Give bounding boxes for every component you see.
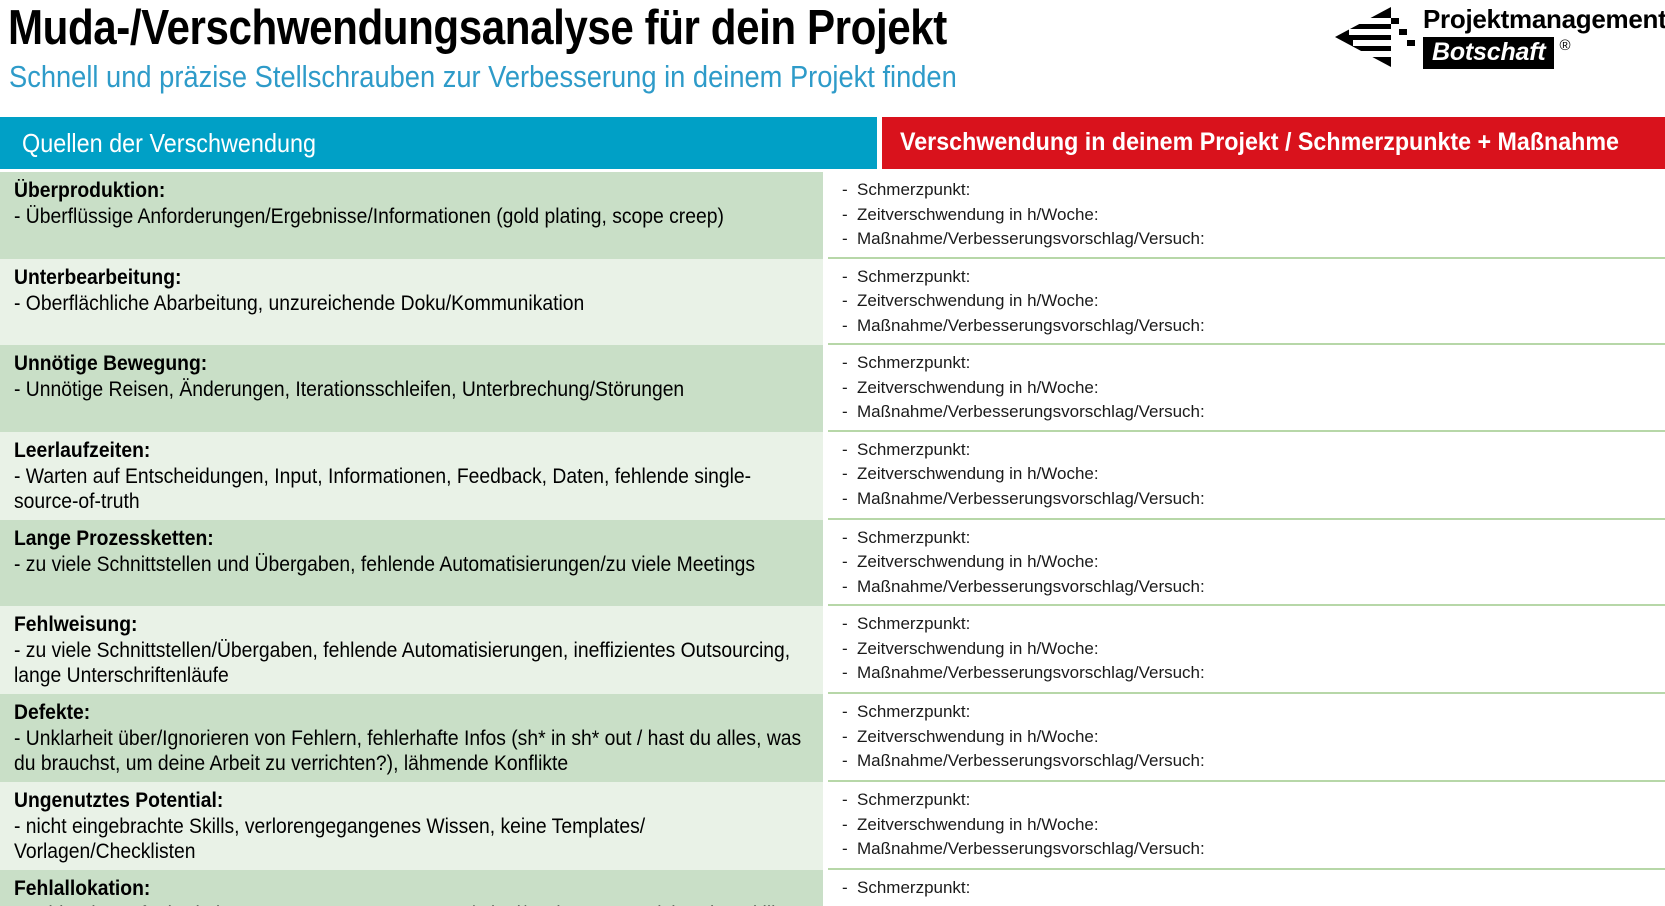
entry-bullet-label: Schmerzpunkt: — [857, 438, 1665, 463]
table-row: Unnötige Bewegung:- Unnötige Reisen, Änd… — [0, 345, 1665, 432]
bullet-dash-icon: - — [828, 265, 857, 290]
entry-bullet-line[interactable]: -Maßnahme/Verbesserungsvorschlag/Versuch… — [828, 487, 1665, 512]
waste-source-description: - Unklarheit über/Ignorieren von Fehlern… — [14, 726, 811, 776]
entry-bullet-label: Maßnahme/Verbesserungsvorschlag/Versuch: — [857, 227, 1665, 252]
entry-bullet-label: Maßnahme/Verbesserungsvorschlag/Versuch: — [857, 837, 1665, 862]
entry-bullet-line[interactable]: -Zeitverschwendung in h/Woche: — [828, 203, 1665, 228]
bullet-dash-icon: - — [828, 314, 857, 339]
bullet-dash-icon: - — [828, 612, 857, 637]
entry-bullet-line[interactable]: -Maßnahme/Verbesserungsvorschlag/Versuch… — [828, 227, 1665, 252]
waste-source-title: Leerlaufzeiten: — [14, 438, 747, 464]
entry-bullet-line[interactable]: -Schmerzpunkt: — [828, 178, 1665, 203]
bullet-dash-icon: - — [828, 788, 857, 813]
table-row: Ungenutztes Potential:- nicht eingebrach… — [0, 782, 1665, 870]
column-header-sources-label: Quellen der Verschwendung — [22, 128, 316, 159]
waste-source-cell: Defekte:- Unklarheit über/Ignorieren von… — [0, 694, 823, 782]
bullet-dash-icon: - — [828, 813, 857, 838]
entry-bullet-line[interactable]: -Zeitverschwendung in h/Woche: — [828, 813, 1665, 838]
entry-bullet-label: Zeitverschwendung in h/Woche: — [857, 637, 1665, 662]
entry-bullet-line[interactable]: -Schmerzpunkt: — [828, 265, 1665, 290]
entry-bullet-label: Maßnahme/Verbesserungsvorschlag/Versuch: — [857, 487, 1665, 512]
waste-source-cell: Unnötige Bewegung:- Unnötige Reisen, Änd… — [0, 345, 823, 432]
table-row: Überproduktion:- Überflüssige Anforderun… — [0, 172, 1665, 259]
waste-source-description: - zu viele Schnittstellen und Übergaben,… — [14, 552, 811, 577]
entry-bullet-label: Schmerzpunkt: — [857, 788, 1665, 813]
waste-table-body: Überproduktion:- Überflüssige Anforderun… — [0, 172, 1665, 906]
table-row: Lange Prozessketten:- zu viele Schnittst… — [0, 520, 1665, 607]
waste-source-description: - Fehlende Verfügbarkeit, Kompetenzen, R… — [14, 902, 811, 906]
entry-bullet-label: Zeitverschwendung in h/Woche: — [857, 901, 1665, 906]
project-entry-cell[interactable]: -Schmerzpunkt:-Zeitverschwendung in h/Wo… — [828, 606, 1665, 694]
entry-bullet-line[interactable]: -Schmerzpunkt: — [828, 788, 1665, 813]
project-entry-cell[interactable]: -Schmerzpunkt:-Zeitverschwendung in h/Wo… — [828, 870, 1665, 906]
entry-bullet-line[interactable]: -Maßnahme/Verbesserungsvorschlag/Versuch… — [828, 661, 1665, 686]
waste-source-cell: Fehlallokation:- Fehlende Verfügbarkeit,… — [0, 870, 823, 906]
triangle-stripes-icon — [1331, 6, 1417, 68]
bullet-dash-icon: - — [828, 178, 857, 203]
bullet-dash-icon: - — [828, 749, 857, 774]
waste-source-title: Fehlweisung: — [14, 612, 747, 638]
entry-bullet-line[interactable]: -Zeitverschwendung in h/Woche: — [828, 901, 1665, 906]
entry-bullet-line[interactable]: -Maßnahme/Verbesserungsvorschlag/Versuch… — [828, 749, 1665, 774]
waste-source-cell: Fehlweisung:- zu viele Schnittstellen/Üb… — [0, 606, 823, 694]
bullet-dash-icon: - — [828, 400, 857, 425]
entry-bullet-label: Schmerzpunkt: — [857, 700, 1665, 725]
waste-source-description: - Warten auf Entscheidungen, Input, Info… — [14, 464, 811, 514]
waste-source-cell: Überproduktion:- Überflüssige Anforderun… — [0, 172, 823, 259]
entry-bullet-label: Schmerzpunkt: — [857, 526, 1665, 551]
bullet-dash-icon: - — [828, 550, 857, 575]
project-entry-cell[interactable]: -Schmerzpunkt:-Zeitverschwendung in h/Wo… — [828, 432, 1665, 520]
bullet-dash-icon: - — [828, 526, 857, 551]
entry-bullet-line[interactable]: -Maßnahme/Verbesserungsvorschlag/Versuch… — [828, 400, 1665, 425]
waste-source-title: Lange Prozessketten: — [14, 526, 747, 552]
table-row: Unterbearbeitung:- Oberflächliche Abarbe… — [0, 259, 1665, 346]
entry-bullet-line[interactable]: -Schmerzpunkt: — [828, 876, 1665, 901]
entry-bullet-label: Schmerzpunkt: — [857, 612, 1665, 637]
entry-bullet-line[interactable]: -Maßnahme/Verbesserungsvorschlag/Versuch… — [828, 575, 1665, 600]
bullet-dash-icon: - — [828, 637, 857, 662]
entry-bullet-label: Maßnahme/Verbesserungsvorschlag/Versuch: — [857, 314, 1665, 339]
entry-bullet-label: Zeitverschwendung in h/Woche: — [857, 289, 1665, 314]
table-row: Defekte:- Unklarheit über/Ignorieren von… — [0, 694, 1665, 782]
page-header: Muda-/Verschwendungsanalyse für dein Pro… — [0, 0, 1665, 110]
entry-bullet-label: Maßnahme/Verbesserungsvorschlag/Versuch: — [857, 749, 1665, 774]
entry-bullet-label: Maßnahme/Verbesserungsvorschlag/Versuch: — [857, 575, 1665, 600]
waste-source-description: - Oberflächliche Abarbeitung, unzureiche… — [14, 291, 811, 316]
waste-source-description: - nicht eingebrachte Skills, verlorengeg… — [14, 814, 811, 864]
page-title: Muda-/Verschwendungsanalyse für dein Pro… — [8, 0, 947, 58]
entry-bullet-line[interactable]: -Schmerzpunkt: — [828, 612, 1665, 637]
bullet-dash-icon: - — [828, 203, 857, 228]
column-header-sources: Quellen der Verschwendung — [0, 117, 877, 169]
entry-bullet-label: Maßnahme/Verbesserungsvorschlag/Versuch: — [857, 661, 1665, 686]
brand-logo: Projektmanagement Botschaft ® — [1331, 4, 1661, 70]
entry-bullet-line[interactable]: -Maßnahme/Verbesserungsvorschlag/Versuch… — [828, 314, 1665, 339]
entry-bullet-line[interactable]: -Zeitverschwendung in h/Woche: — [828, 550, 1665, 575]
waste-source-cell: Leerlaufzeiten:- Warten auf Entscheidung… — [0, 432, 823, 520]
bullet-dash-icon: - — [828, 575, 857, 600]
entry-bullet-line[interactable]: -Zeitverschwendung in h/Woche: — [828, 289, 1665, 314]
bullet-dash-icon: - — [828, 289, 857, 314]
muda-analysis-worksheet: Muda-/Verschwendungsanalyse für dein Pro… — [0, 0, 1665, 906]
waste-source-cell: Ungenutztes Potential:- nicht eingebrach… — [0, 782, 823, 870]
entry-bullet-label: Zeitverschwendung in h/Woche: — [857, 725, 1665, 750]
entry-bullet-line[interactable]: -Schmerzpunkt: — [828, 526, 1665, 551]
bullet-dash-icon: - — [828, 487, 857, 512]
entry-bullet-label: Maßnahme/Verbesserungsvorschlag/Versuch: — [857, 400, 1665, 425]
entry-bullet-line[interactable]: -Zeitverschwendung in h/Woche: — [828, 637, 1665, 662]
entry-bullet-label: Schmerzpunkt: — [857, 351, 1665, 376]
project-entry-cell[interactable]: -Schmerzpunkt:-Zeitverschwendung in h/Wo… — [828, 345, 1665, 432]
bullet-dash-icon: - — [828, 227, 857, 252]
bullet-dash-icon: - — [828, 462, 857, 487]
entry-bullet-label: Schmerzpunkt: — [857, 876, 1665, 901]
project-entry-cell[interactable]: -Schmerzpunkt:-Zeitverschwendung in h/Wo… — [828, 520, 1665, 607]
page-subtitle: Schnell und präzise Stellschrauben zur V… — [9, 56, 957, 98]
entry-bullet-label: Zeitverschwendung in h/Woche: — [857, 813, 1665, 838]
bullet-dash-icon: - — [828, 700, 857, 725]
waste-source-description: - Unnötige Reisen, Änderungen, Iteration… — [14, 377, 811, 402]
project-entry-cell[interactable]: -Schmerzpunkt:-Zeitverschwendung in h/Wo… — [828, 694, 1665, 782]
brand-line-botschaft-wrap: Botschaft ® — [1423, 37, 1554, 69]
bullet-dash-icon: - — [828, 725, 857, 750]
waste-source-title: Ungenutztes Potential: — [14, 788, 747, 814]
project-entry-cell[interactable]: -Schmerzpunkt:-Zeitverschwendung in h/Wo… — [828, 172, 1665, 259]
waste-source-title: Überproduktion: — [14, 178, 747, 204]
waste-source-description: - zu viele Schnittstellen/Übergaben, feh… — [14, 638, 811, 688]
project-entry-cell[interactable]: -Schmerzpunkt:-Zeitverschwendung in h/Wo… — [828, 259, 1665, 346]
waste-source-cell: Lange Prozessketten:- zu viele Schnittst… — [0, 520, 823, 607]
project-entry-cell[interactable]: -Schmerzpunkt:-Zeitverschwendung in h/Wo… — [828, 782, 1665, 870]
column-header-project-label: Verschwendung in deinem Projekt / Schmer… — [900, 128, 1619, 157]
entry-bullet-line[interactable]: -Zeitverschwendung in h/Woche: — [828, 376, 1665, 401]
bullet-dash-icon: - — [828, 901, 857, 906]
entry-bullet-label: Zeitverschwendung in h/Woche: — [857, 203, 1665, 228]
entry-bullet-line[interactable]: -Maßnahme/Verbesserungsvorschlag/Versuch… — [828, 837, 1665, 862]
table-row: Fehlweisung:- zu viele Schnittstellen/Üb… — [0, 606, 1665, 694]
bullet-dash-icon: - — [828, 661, 857, 686]
entry-bullet-label: Schmerzpunkt: — [857, 178, 1665, 203]
bullet-dash-icon: - — [828, 376, 857, 401]
entry-bullet-label: Zeitverschwendung in h/Woche: — [857, 376, 1665, 401]
brand-line-projektmanagement: Projektmanagement — [1423, 4, 1661, 35]
brand-line-botschaft: Botschaft — [1423, 37, 1554, 69]
registered-trademark-icon: ® — [1559, 37, 1570, 55]
waste-source-title: Unterbearbeitung: — [14, 265, 747, 291]
bullet-dash-icon: - — [828, 438, 857, 463]
waste-source-description: - Überflüssige Anforderungen/Ergebnisse/… — [14, 204, 811, 229]
brand-wordmark: Projektmanagement Botschaft ® — [1423, 4, 1661, 70]
bullet-dash-icon: - — [828, 837, 857, 862]
waste-source-cell: Unterbearbeitung:- Oberflächliche Abarbe… — [0, 259, 823, 346]
entry-bullet-label: Zeitverschwendung in h/Woche: — [857, 550, 1665, 575]
waste-source-title: Unnötige Bewegung: — [14, 351, 747, 377]
entry-bullet-line[interactable]: -Schmerzpunkt: — [828, 438, 1665, 463]
bullet-dash-icon: - — [828, 876, 857, 901]
bullet-dash-icon: - — [828, 351, 857, 376]
column-header-project: Verschwendung in deinem Projekt / Schmer… — [882, 117, 1665, 169]
entry-bullet-line[interactable]: -Schmerzpunkt: — [828, 351, 1665, 376]
table-row: Leerlaufzeiten:- Warten auf Entscheidung… — [0, 432, 1665, 520]
entry-bullet-line[interactable]: -Zeitverschwendung in h/Woche: — [828, 725, 1665, 750]
entry-bullet-line[interactable]: -Zeitverschwendung in h/Woche: — [828, 462, 1665, 487]
entry-bullet-label: Zeitverschwendung in h/Woche: — [857, 462, 1665, 487]
entry-bullet-label: Schmerzpunkt: — [857, 265, 1665, 290]
waste-source-title: Fehlallokation: — [14, 876, 747, 902]
entry-bullet-line[interactable]: -Schmerzpunkt: — [828, 700, 1665, 725]
waste-source-title: Defekte: — [14, 700, 747, 726]
table-row: Fehlallokation:- Fehlende Verfügbarkeit,… — [0, 870, 1665, 906]
